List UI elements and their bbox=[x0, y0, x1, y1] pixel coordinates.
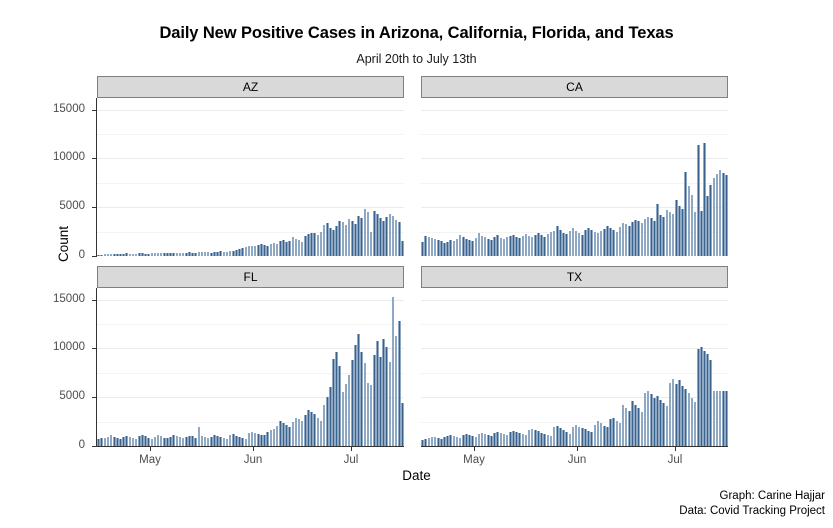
y-tick-label: 10000 bbox=[29, 341, 85, 353]
gridline-major bbox=[421, 158, 728, 159]
bar bbox=[725, 175, 728, 256]
chart-root: Daily New Positive Cases in Arizona, Cal… bbox=[0, 0, 833, 528]
y-tick-mark bbox=[92, 110, 96, 111]
y-tick-label: 0 bbox=[29, 249, 85, 261]
gridline-major bbox=[421, 300, 728, 301]
x-tick-label: May bbox=[454, 454, 494, 466]
chart-title: Daily New Positive Cases in Arizona, Cal… bbox=[0, 24, 833, 43]
gridline-minor bbox=[421, 134, 728, 135]
facet-strip-fl: FL bbox=[97, 266, 404, 288]
bar bbox=[401, 403, 404, 446]
chart-subtitle: April 20th to July 13th bbox=[0, 52, 833, 66]
panel-tx bbox=[421, 288, 728, 446]
x-tick-label: Jun bbox=[233, 454, 273, 466]
x-axis-line bbox=[97, 446, 404, 447]
gridline-minor bbox=[421, 183, 728, 184]
panel-az bbox=[97, 98, 404, 256]
y-tick-mark bbox=[92, 207, 96, 208]
gridline-major bbox=[421, 348, 728, 349]
facet-strip-az: AZ bbox=[97, 76, 404, 98]
y-tick-mark bbox=[92, 348, 96, 349]
y-tick-label: 5000 bbox=[29, 200, 85, 212]
x-tick-mark bbox=[351, 447, 352, 451]
gridline-minor bbox=[97, 134, 404, 135]
gridline-minor bbox=[97, 183, 404, 184]
facet-strip-label: TX bbox=[567, 270, 582, 284]
y-tick-mark bbox=[92, 158, 96, 159]
y-axis-line bbox=[96, 98, 97, 257]
chart-caption: Graph: Carine Hajjar Data: Covid Trackin… bbox=[679, 489, 825, 519]
facet-strip-label: CA bbox=[566, 80, 583, 94]
caption-data-credit: Data: Covid Tracking Project bbox=[679, 504, 825, 519]
gridline-minor bbox=[97, 324, 404, 325]
caption-graph-credit: Graph: Carine Hajjar bbox=[679, 489, 825, 504]
x-axis-line bbox=[421, 446, 728, 447]
gridline-minor bbox=[421, 373, 728, 374]
x-tick-mark bbox=[577, 447, 578, 451]
facet-strip-tx: TX bbox=[421, 266, 728, 288]
facet-strip-ca: CA bbox=[421, 76, 728, 98]
panel-fl bbox=[97, 288, 404, 446]
y-tick-label: 5000 bbox=[29, 390, 85, 402]
y-tick-label: 10000 bbox=[29, 151, 85, 163]
x-tick-mark bbox=[675, 447, 676, 451]
gridline-major bbox=[97, 110, 404, 111]
facet-strip-label: AZ bbox=[243, 80, 258, 94]
gridline-minor bbox=[421, 324, 728, 325]
y-tick-mark bbox=[92, 300, 96, 301]
bar bbox=[725, 391, 728, 446]
gridline-major bbox=[421, 110, 728, 111]
y-tick-mark bbox=[92, 446, 96, 447]
x-tick-mark bbox=[253, 447, 254, 451]
x-tick-label: Jun bbox=[557, 454, 597, 466]
y-tick-mark bbox=[92, 256, 96, 257]
x-tick-label: May bbox=[130, 454, 170, 466]
y-tick-mark bbox=[92, 397, 96, 398]
facet-strip-label: FL bbox=[243, 270, 257, 284]
bar bbox=[401, 241, 404, 256]
x-tick-mark bbox=[150, 447, 151, 451]
y-tick-label: 15000 bbox=[29, 293, 85, 305]
y-tick-label: 15000 bbox=[29, 103, 85, 115]
x-tick-mark bbox=[474, 447, 475, 451]
x-tick-label: Jul bbox=[655, 454, 695, 466]
y-axis-line bbox=[96, 288, 97, 447]
gridline-major bbox=[97, 300, 404, 301]
gridline-major bbox=[97, 158, 404, 159]
x-tick-label: Jul bbox=[331, 454, 371, 466]
panel-ca bbox=[421, 98, 728, 256]
x-axis-title: Date bbox=[0, 468, 833, 483]
gridline-major bbox=[97, 207, 404, 208]
gridline-major bbox=[421, 207, 728, 208]
y-tick-label: 0 bbox=[29, 439, 85, 451]
